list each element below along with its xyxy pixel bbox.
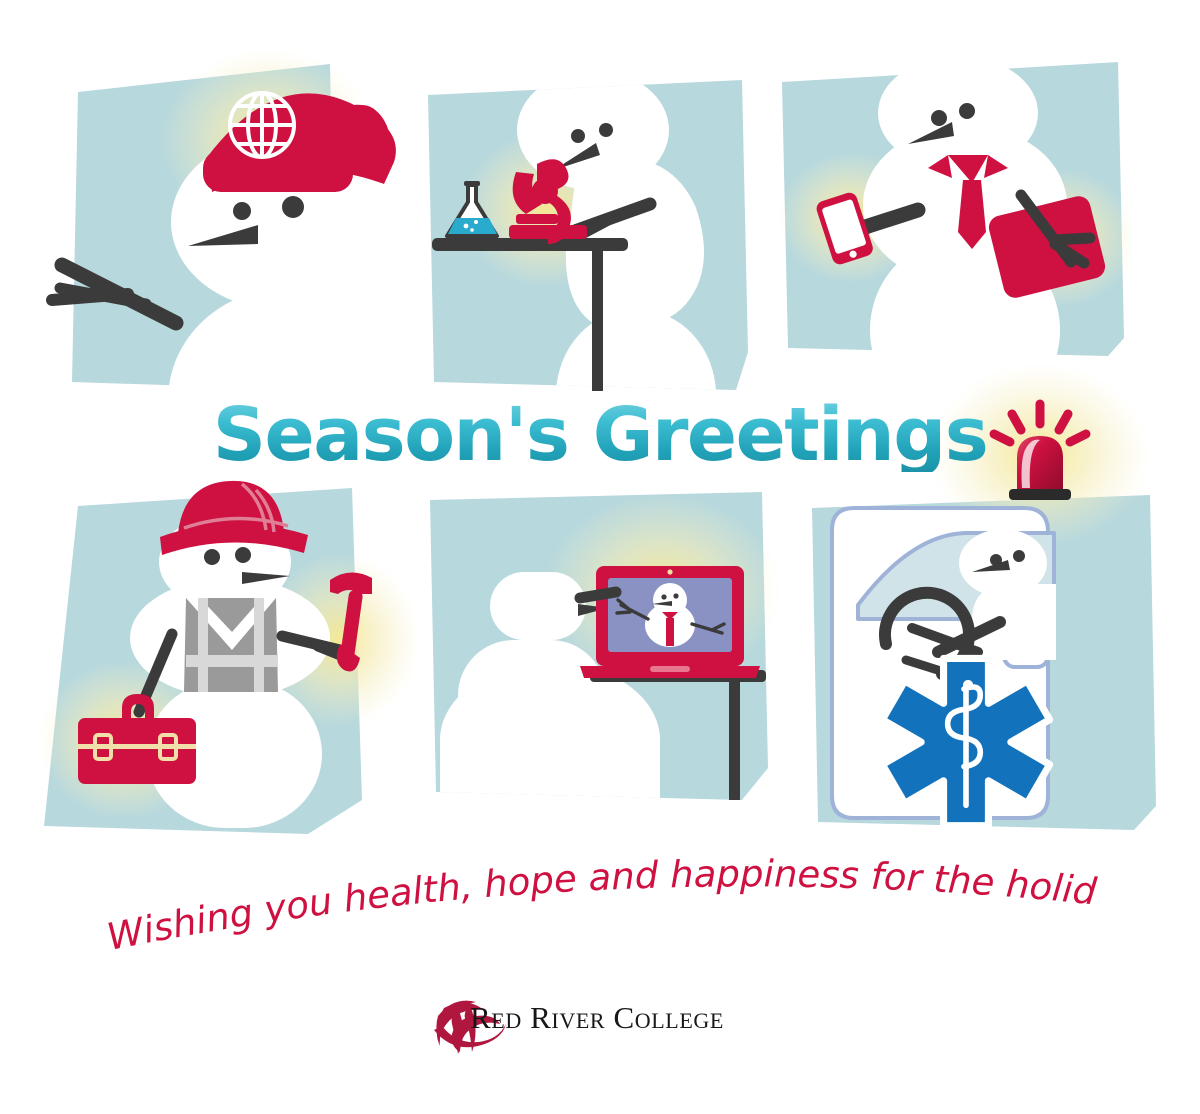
snowman-3-eye-left [931,110,947,126]
illustration-stage: Wishing you health, hope and happiness f… [0,0,1200,1114]
snowman-5-torso [458,640,606,750]
snowman-1-eye-left [233,202,251,220]
snowman-3-head [878,56,1038,170]
panel-snowman-scientist [428,70,748,400]
snowman-1-eye-right [282,196,304,218]
laptop-trackpad [650,666,690,672]
santa-hat-pompom [342,105,382,145]
snowman-4-eye-right [235,547,251,563]
panel-snowman-business [778,56,1136,425]
santa-hat-brim [203,150,353,192]
safety-vest-icon [184,598,278,692]
logo-wordmark: Red River College [470,1000,724,1036]
panel-snowman-video-call [430,492,782,800]
panel-snowman-global [52,48,408,400]
webcam-icon [667,569,672,574]
snowman-3-eye-right [959,103,975,119]
holiday-greeting-card: Wishing you health, hope and happiness f… [0,0,1200,1114]
snowman-5-arm [580,592,616,598]
panel-snowman-paramedic [812,363,1156,830]
snowman-2-eye-left [571,129,585,143]
panel-snowman-construction [38,481,420,834]
globe-icon [230,93,294,157]
snowman-2-eye-right [599,123,613,137]
card-artwork: Wishing you health, hope and happiness f… [0,0,1200,1114]
snowman-4-eye-left [204,549,220,565]
lab-table-leg [592,249,603,391]
snowman-5-head [490,572,586,640]
desk-leg [729,682,740,800]
